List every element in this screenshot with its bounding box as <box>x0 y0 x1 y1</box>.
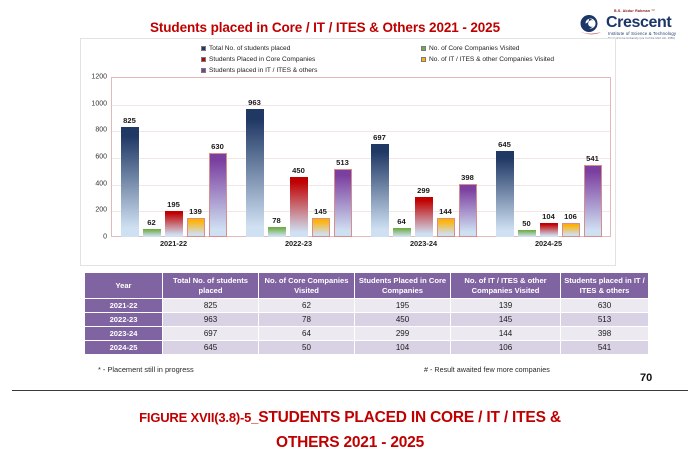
bar-fill <box>584 165 602 237</box>
bar-fill <box>121 127 139 237</box>
bar-groups: 8256219513963096378450145513697642991443… <box>111 77 611 237</box>
bar-value-label: 513 <box>336 158 349 167</box>
col-header-it-placed: Students placed in IT / ITES & others <box>561 273 649 299</box>
bar-value-label: 104 <box>542 212 555 221</box>
logo-top-text: B.S. Abdur Rahman ™ <box>614 9 655 13</box>
table-cell-core-placed: 104 <box>355 341 451 355</box>
legend-label: No. of Core Companies Visited <box>429 43 519 54</box>
table-cell-it-placed: 630 <box>561 299 649 313</box>
bar-fill <box>143 229 161 237</box>
col-header-year: Year <box>85 273 163 299</box>
table-cell-year: 2024-25 <box>85 341 163 355</box>
col-header-core-visited: No. of Core Companies Visited <box>259 273 355 299</box>
bar: 106 <box>562 223 580 237</box>
bar-fill <box>246 109 264 237</box>
chart-container: Total No. of students placed Students Pl… <box>80 38 616 266</box>
legend-label: No. of IT / ITES & other Companies Visit… <box>429 54 554 65</box>
figure-caption: FIGURE XVII(3.8)-5_STUDENTS PLACED IN CO… <box>0 405 700 455</box>
x-axis-tick: 2021-22 <box>111 239 236 248</box>
bar-value-label: 144 <box>439 207 452 216</box>
bar-value-label: 64 <box>397 217 405 226</box>
table-row: 2022-2396378450145513 <box>85 313 649 327</box>
bar: 144 <box>437 218 455 237</box>
plot-area: 120010008006004002000 825621951396309637… <box>81 77 617 267</box>
bar-fill <box>371 144 389 237</box>
bar: 630 <box>209 153 227 237</box>
x-axis-labels: 2021-222022-232023-242024-25 <box>111 239 611 248</box>
logo-wordmark: Crescent <box>606 14 671 31</box>
bar: 145 <box>312 218 330 237</box>
logo-subtitle: Institute of Science & Technology <box>608 31 676 36</box>
y-axis-tick: 400 <box>95 180 107 187</box>
bar-value-label: 541 <box>586 154 599 163</box>
x-axis-tick: 2024-25 <box>486 239 611 248</box>
bar-fill <box>165 211 183 237</box>
legend-swatch-icon <box>201 57 206 62</box>
table-row: 2023-2469764299144398 <box>85 327 649 341</box>
y-axis-tick: 1000 <box>91 100 107 107</box>
bar-fill <box>187 218 205 237</box>
bar: 450 <box>290 177 308 237</box>
bar-value-label: 825 <box>123 116 136 125</box>
bar: 963 <box>246 109 264 237</box>
legend-swatch-icon <box>421 46 426 51</box>
bar-value-label: 645 <box>498 140 511 149</box>
table-row: 2021-2282562195139630 <box>85 299 649 313</box>
legend-item-core-visited: No. of Core Companies Visited <box>421 43 554 54</box>
table-cell-year: 2022-23 <box>85 313 163 327</box>
x-axis-tick: 2023-24 <box>361 239 486 248</box>
legend-column-left: Total No. of students placed Students Pl… <box>201 43 317 76</box>
bar-value-label: 697 <box>373 133 386 142</box>
y-axis-tick: 600 <box>95 154 107 161</box>
legend-swatch-icon <box>201 46 206 51</box>
bar: 104 <box>540 223 558 237</box>
table-cell-year: 2021-22 <box>85 299 163 313</box>
bar-value-label: 299 <box>417 186 430 195</box>
table-cell-core-placed: 195 <box>355 299 451 313</box>
legend-swatch-icon <box>201 68 206 73</box>
legend-item-core-placed: Students Placed in Core Companies <box>201 54 317 65</box>
table-cell-total: 697 <box>163 327 259 341</box>
bar: 64 <box>393 228 411 237</box>
y-axis-tick: 0 <box>103 234 107 241</box>
bar-fill <box>393 228 411 237</box>
col-header-total-placed: Total No. of students placed <box>163 273 259 299</box>
bar-value-label: 450 <box>292 166 305 175</box>
bar: 541 <box>584 165 602 237</box>
table-cell-it-visited: 106 <box>451 341 561 355</box>
footnote-right: # - Result awaited few more companies <box>424 365 550 374</box>
bar-value-label: 195 <box>167 200 180 209</box>
caption-line1: STUDENTS PLACED IN CORE / IT / ITES & <box>258 409 561 426</box>
legend-label: Students placed in IT / ITES & others <box>209 65 317 76</box>
slide-page: Students placed in Core / IT / ITES & Ot… <box>0 0 700 462</box>
bar-value-label: 139 <box>189 207 202 216</box>
bar-value-label: 62 <box>147 218 155 227</box>
bar-group: 69764299144398 <box>361 77 486 237</box>
bar: 398 <box>459 184 477 237</box>
legend-item-it-placed: Students placed in IT / ITES & others <box>201 65 317 76</box>
y-axis-tick: 200 <box>95 207 107 214</box>
bar: 139 <box>187 218 205 237</box>
bar-group: 64550104106541 <box>486 77 611 237</box>
bar: 299 <box>415 197 433 237</box>
bar-fill <box>540 223 558 237</box>
bar-value-label: 106 <box>564 212 577 221</box>
y-axis-tick: 1200 <box>91 74 107 81</box>
caption-line2: OTHERS 2021 - 2025 <box>276 434 424 451</box>
page-number: 70 <box>640 372 652 384</box>
table-cell-it-visited: 144 <box>451 327 561 341</box>
table-cell-core-placed: 450 <box>355 313 451 327</box>
bar: 697 <box>371 144 389 237</box>
bar-value-label: 963 <box>248 98 261 107</box>
bar-fill <box>518 230 536 237</box>
bar-fill <box>209 153 227 237</box>
legend-swatch-icon <box>421 57 426 62</box>
bar: 78 <box>268 227 286 237</box>
bar-fill <box>437 218 455 237</box>
y-axis-labels: 120010008006004002000 <box>81 77 109 237</box>
table-cell-core-visited: 78 <box>259 313 355 327</box>
table-cell-it-placed: 398 <box>561 327 649 341</box>
horizontal-rule <box>12 390 688 391</box>
bar-value-label: 145 <box>314 207 327 216</box>
bar: 62 <box>143 229 161 237</box>
bar-group: 82562195139630 <box>111 77 236 237</box>
placement-data-table: Year Total No. of students placed No. of… <box>84 272 649 355</box>
bar-value-label: 398 <box>461 173 474 182</box>
chart-legend: Total No. of students placed Students Pl… <box>101 43 601 77</box>
col-header-it-visited: No. of IT / ITES & other Companies Visit… <box>451 273 561 299</box>
table-cell-core-placed: 299 <box>355 327 451 341</box>
x-axis-tick: 2022-23 <box>236 239 361 248</box>
bar-fill <box>312 218 330 237</box>
bar-fill <box>562 223 580 237</box>
bar-fill <box>415 197 433 237</box>
bar-value-label: 78 <box>272 216 280 225</box>
logo-tagline: Deemed to be University (u/s 3 of the UG… <box>608 37 675 40</box>
bar-fill <box>496 151 514 237</box>
page-title: Students placed in Core / IT / ITES & Ot… <box>90 20 560 35</box>
table-cell-total: 645 <box>163 341 259 355</box>
legend-item-it-visited: No. of IT / ITES & other Companies Visit… <box>421 54 554 65</box>
bar-fill <box>268 227 286 237</box>
bar: 513 <box>334 169 352 237</box>
bar: 825 <box>121 127 139 237</box>
table-cell-it-placed: 513 <box>561 313 649 327</box>
table-cell-it-visited: 145 <box>451 313 561 327</box>
table-header-row: Year Total No. of students placed No. of… <box>85 273 649 299</box>
caption-prefix: FIGURE XVII(3.8)-5_ <box>139 410 258 425</box>
crescent-emblem-icon <box>578 14 604 36</box>
y-axis-tick: 800 <box>95 127 107 134</box>
table-cell-core-visited: 62 <box>259 299 355 313</box>
footnote-left: * - Placement still in progress <box>98 365 194 374</box>
bar-fill <box>459 184 477 237</box>
bar-value-label: 50 <box>522 219 530 228</box>
legend-column-right: No. of Core Companies Visited No. of IT … <box>421 43 554 65</box>
legend-label: Students Placed in Core Companies <box>209 54 315 65</box>
bar-value-label: 630 <box>211 142 224 151</box>
table-cell-total: 825 <box>163 299 259 313</box>
bar-group: 96378450145513 <box>236 77 361 237</box>
bar: 50 <box>518 230 536 237</box>
table-cell-core-visited: 64 <box>259 327 355 341</box>
table-cell-it-placed: 541 <box>561 341 649 355</box>
legend-label: Total No. of students placed <box>209 43 290 54</box>
table-cell-year: 2023-24 <box>85 327 163 341</box>
bar-fill <box>290 177 308 237</box>
table-cell-core-visited: 50 <box>259 341 355 355</box>
bar-fill <box>334 169 352 237</box>
bar: 195 <box>165 211 183 237</box>
table-row: 2024-2564550104106541 <box>85 341 649 355</box>
bar: 645 <box>496 151 514 237</box>
col-header-core-placed: Students Placed in Core Companies <box>355 273 451 299</box>
table-cell-total: 963 <box>163 313 259 327</box>
table-cell-it-visited: 139 <box>451 299 561 313</box>
legend-item-total-placed: Total No. of students placed <box>201 43 317 54</box>
